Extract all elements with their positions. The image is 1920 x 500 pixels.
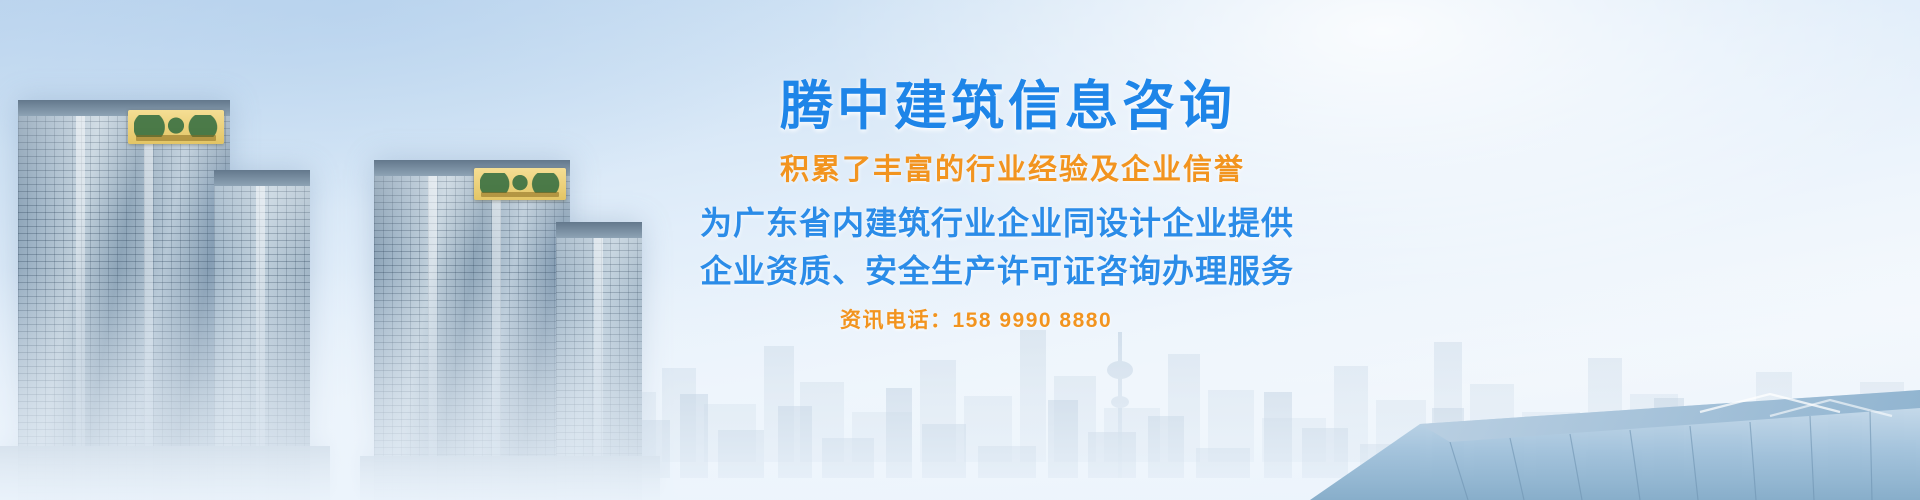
banner-body-line-1: 为广东省内建筑行业企业同设计企业提供 xyxy=(700,198,1480,244)
banner-subtitle: 积累了丰富的行业经验及企业信誉 xyxy=(780,146,1480,188)
banner-phone: 资讯电话：158 9990 8880 xyxy=(840,304,1480,334)
banner-body-line-2: 企业资质、安全生产许可证咨询办理服务 xyxy=(700,246,1480,292)
banner-text-block: 腾中建筑信息咨询 积累了丰富的行业经验及企业信誉 为广东省内建筑行业企业同设计企… xyxy=(0,0,1920,500)
banner-title: 腾中建筑信息咨询 xyxy=(780,64,1480,140)
hero-banner: 腾中建筑信息咨询 积累了丰富的行业经验及企业信誉 为广东省内建筑行业企业同设计企… xyxy=(0,0,1920,500)
